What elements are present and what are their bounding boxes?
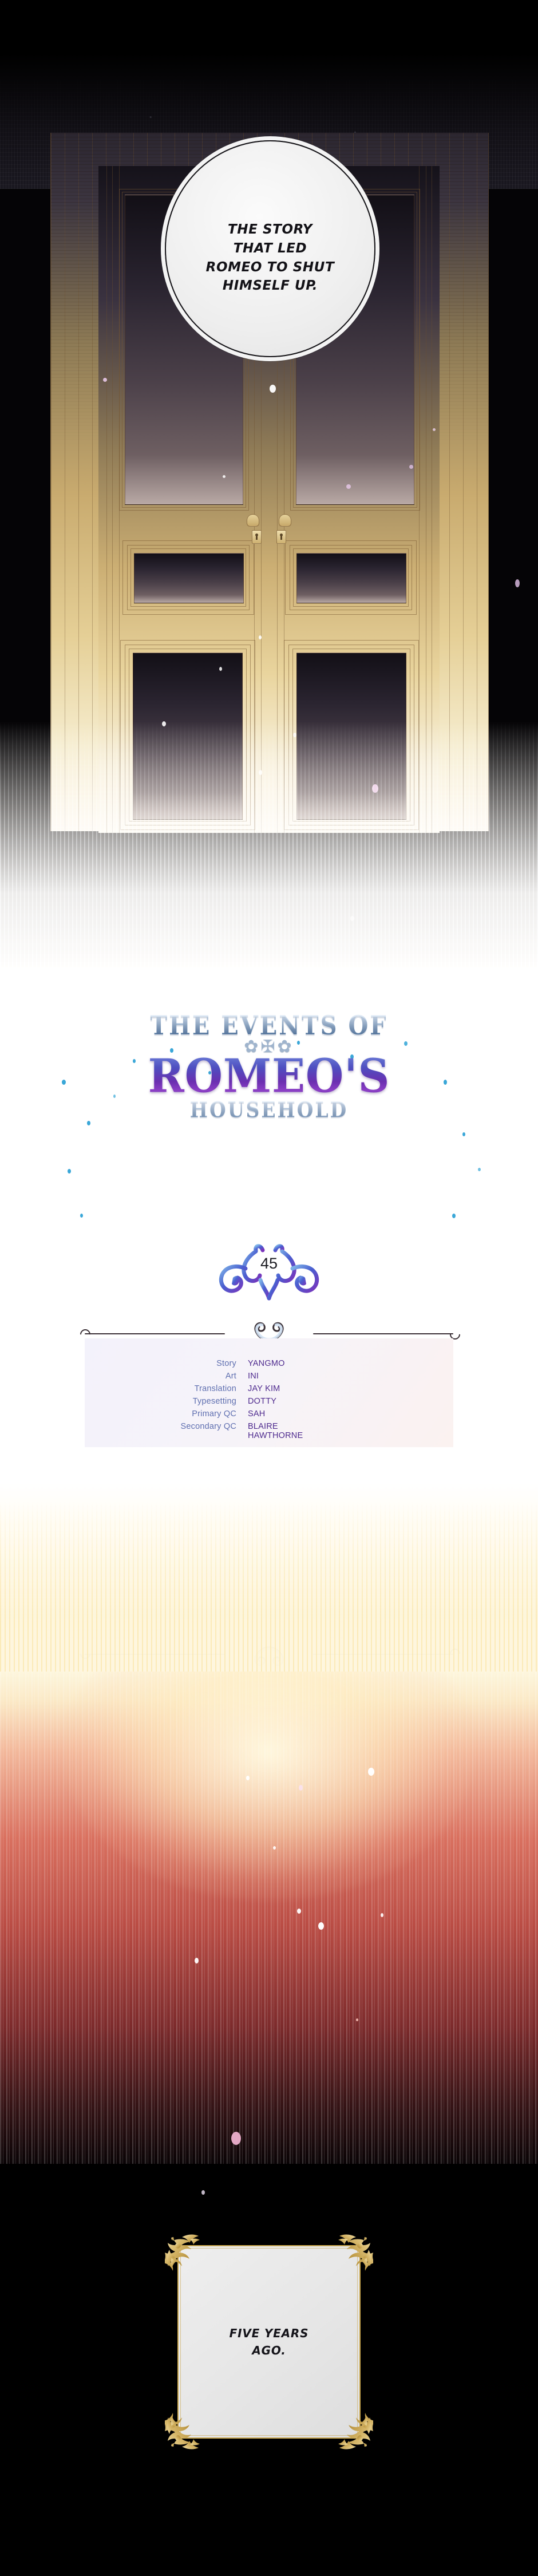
flashback-caption-text: FIVE YEARS AGO. (165, 2233, 373, 2451)
comic-page: THE STORY THAT LED ROMEO TO SHUT HIMSELF… (0, 0, 538, 2576)
credit-label: Story (85, 1359, 236, 1368)
confetti-fleck (478, 1168, 481, 1171)
episode-badge: 45 (0, 1239, 538, 1302)
door-glass-panel-middle (296, 553, 406, 603)
speech-bubble-text: THE STORY THAT LED ROMEO TO SHUT HIMSELF… (206, 220, 335, 295)
title-line-1: THE EVENTS OF (0, 1010, 538, 1041)
dust-mote (201, 2190, 205, 2195)
door-glass-panel-middle (134, 553, 244, 603)
speech-bubble: THE STORY THAT LED ROMEO TO SHUT HIMSELF… (165, 140, 375, 357)
credit-value: DOTTY (248, 1397, 453, 1406)
credit-value: YANGMO (248, 1359, 453, 1368)
golden-light-wash (0, 1483, 538, 1672)
episode-number: 45 (0, 1255, 538, 1273)
confetti-fleck (80, 1214, 83, 1218)
door-handle-left[interactable] (247, 514, 259, 527)
credit-label: Primary QC (85, 1409, 236, 1419)
credit-value: JAY KIM (248, 1384, 453, 1393)
title-line-3: HOUSEHOLD (0, 1097, 538, 1123)
door-handle-right[interactable] (279, 514, 291, 527)
divider-rule (85, 1333, 225, 1334)
credit-label: Secondary QC (85, 1422, 236, 1440)
credit-value: BLAIRE HAWTHORNE (248, 1422, 453, 1440)
credit-value: SAH (248, 1409, 453, 1419)
credit-label: Translation (85, 1384, 236, 1393)
vertical-streaks-texture (0, 1672, 538, 2164)
series-title-logo: THE EVENTS OF ✿✠✿ ROMEO'S HOUSEHOLD (0, 1012, 538, 1121)
divider-top (0, 1317, 538, 1340)
dust-mote (515, 579, 520, 587)
panel-title-credits: THE EVENTS OF ✿✠✿ ROMEO'S HOUSEHOLD (0, 967, 538, 1672)
keyhole-left[interactable] (252, 530, 262, 544)
panel-flashback: FIVE YEARS AGO. (0, 2164, 538, 2576)
divider-rule (313, 1333, 453, 1334)
credits-table: Story YANGMO Art INI Translation JAY KIM… (85, 1359, 453, 1440)
credits-card: Story YANGMO Art INI Translation JAY KIM… (85, 1338, 453, 1447)
flashback-caption-frame: FIVE YEARS AGO. (165, 2233, 373, 2451)
confetti-fleck (452, 1214, 456, 1218)
panel-double-doors: THE STORY THAT LED ROMEO TO SHUT HIMSELF… (0, 0, 538, 967)
credit-label: Typesetting (85, 1397, 236, 1406)
title-line-2: ROMEO'S (0, 1054, 538, 1099)
panel-red-light-curtain (0, 1672, 538, 2164)
keyhole-right[interactable] (276, 530, 286, 544)
credit-value: INI (248, 1372, 453, 1381)
door-light-bloom (0, 721, 538, 967)
credit-label: Art (85, 1372, 236, 1381)
confetti-fleck (68, 1169, 71, 1174)
confetti-fleck (462, 1132, 465, 1136)
